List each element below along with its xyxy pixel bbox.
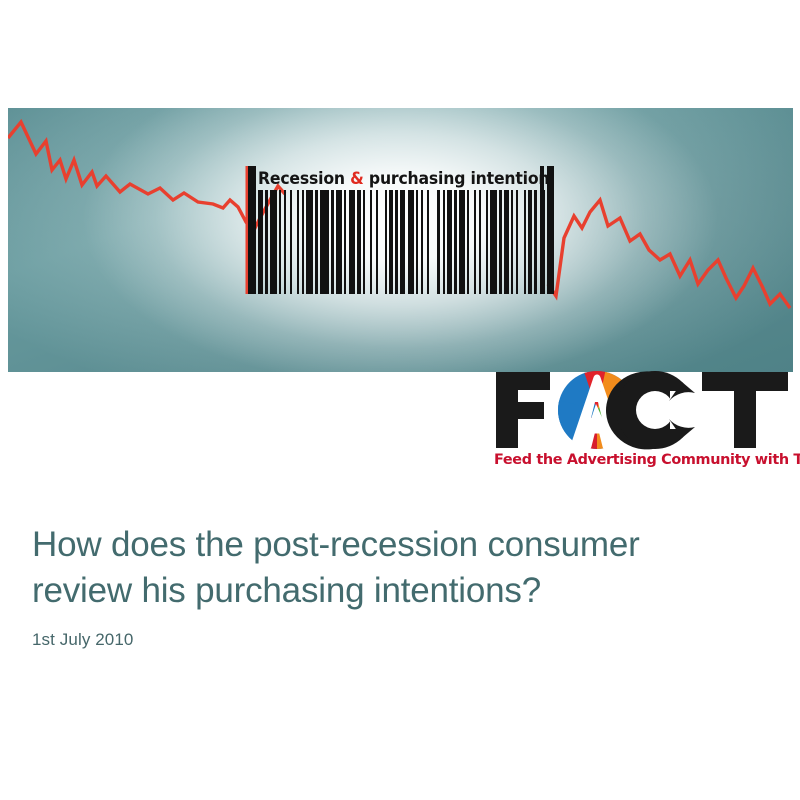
barcode-title-text: Recession & purchasing intention — [258, 166, 549, 192]
fact-wordmark — [492, 368, 792, 450]
barcode-right-inner-bar — [540, 166, 544, 294]
page-title: How does the post-recession consumer rev… — [32, 522, 762, 614]
barcode-graphic: Recession & purchasing intention — [244, 166, 556, 294]
barcode-right-guard-bar — [547, 166, 554, 294]
barcode-bar — [429, 190, 437, 294]
barcode-title-suffix: purchasing intention — [364, 169, 550, 188]
title-banner-image: Recession & purchasing intention — [8, 108, 793, 372]
logo-letter-t — [702, 372, 788, 448]
barcode-title-prefix: Recession — [258, 169, 350, 188]
fact-tagline: Feed the Advertising Community with Tren… — [494, 452, 792, 468]
page-title-line-2: review his purchasing intentions? — [32, 568, 762, 614]
barcode-left-guard-bar — [248, 166, 256, 294]
fact-logo: Feed the Advertising Community with Tren… — [492, 368, 792, 478]
barcode-bar — [320, 190, 329, 294]
page-title-line-1: How does the post-recession consumer — [32, 522, 762, 568]
barcode-title-ampersand: & — [350, 169, 363, 188]
presentation-date: 1st July 2010 — [32, 629, 133, 651]
presentation-slide: Recession & purchasing intention — [0, 0, 800, 800]
logo-letter-c — [606, 371, 696, 449]
logo-letter-f — [496, 372, 550, 448]
barcode-bars — [258, 190, 552, 294]
barcode-bar — [490, 190, 497, 294]
barcode-bar — [378, 190, 385, 294]
